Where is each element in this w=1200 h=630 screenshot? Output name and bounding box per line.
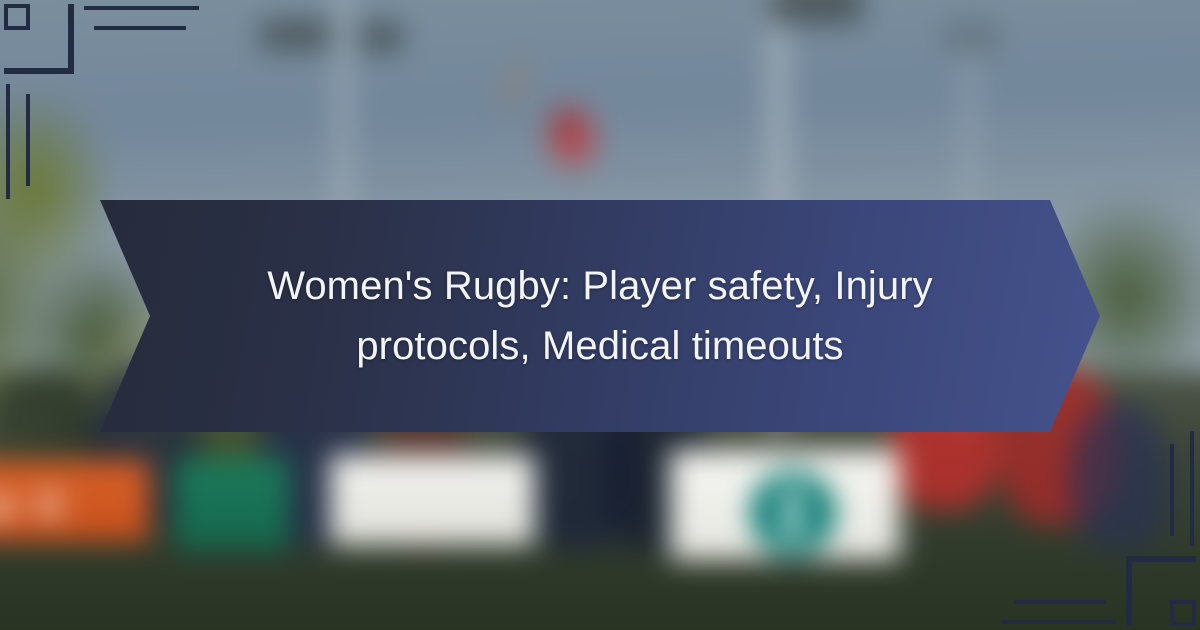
page-title: Women's Rugby: Player safety, Injury pro… xyxy=(240,256,960,376)
ornament-elbow-vertical xyxy=(1126,556,1132,626)
ornament-elbow-vertical xyxy=(68,4,74,74)
ornament-rule-vertical-outer xyxy=(6,84,10,199)
floodlight-lamp-c xyxy=(770,0,862,24)
banner-card: Women's Rugby: Player safety, Injury pro… xyxy=(0,0,1200,630)
lineout-jumper xyxy=(491,39,618,183)
ornament-rule-vertical-outer xyxy=(1190,431,1194,546)
ornament-elbow-horizontal xyxy=(1126,556,1196,562)
corner-ornament-top-left xyxy=(0,0,170,150)
floodlight-lamp-a xyxy=(260,20,332,50)
ornament-rule-horizontal-outer xyxy=(84,6,199,10)
ornament-rule-vertical-inner xyxy=(1170,444,1174,536)
advert-board-white-left xyxy=(330,455,535,545)
floodlight-lamp-d xyxy=(945,22,997,54)
advert-board-logo xyxy=(750,470,836,556)
advert-board-orange xyxy=(0,460,150,542)
ornament-elbow-horizontal xyxy=(4,68,74,74)
advert-board-green xyxy=(175,458,290,550)
ornament-square xyxy=(1170,600,1196,626)
ornament-square xyxy=(4,4,30,30)
floodlight-lamp-b xyxy=(360,22,402,52)
ornament-rule-vertical-inner xyxy=(26,94,30,186)
ornament-rule-horizontal-inner xyxy=(94,26,186,30)
ornament-rule-horizontal-inner xyxy=(1014,600,1106,604)
headline-banner: Women's Rugby: Player safety, Injury pro… xyxy=(100,200,1100,432)
ornament-rule-horizontal-outer xyxy=(1001,620,1116,624)
corner-ornament-bottom-right xyxy=(1030,480,1200,630)
